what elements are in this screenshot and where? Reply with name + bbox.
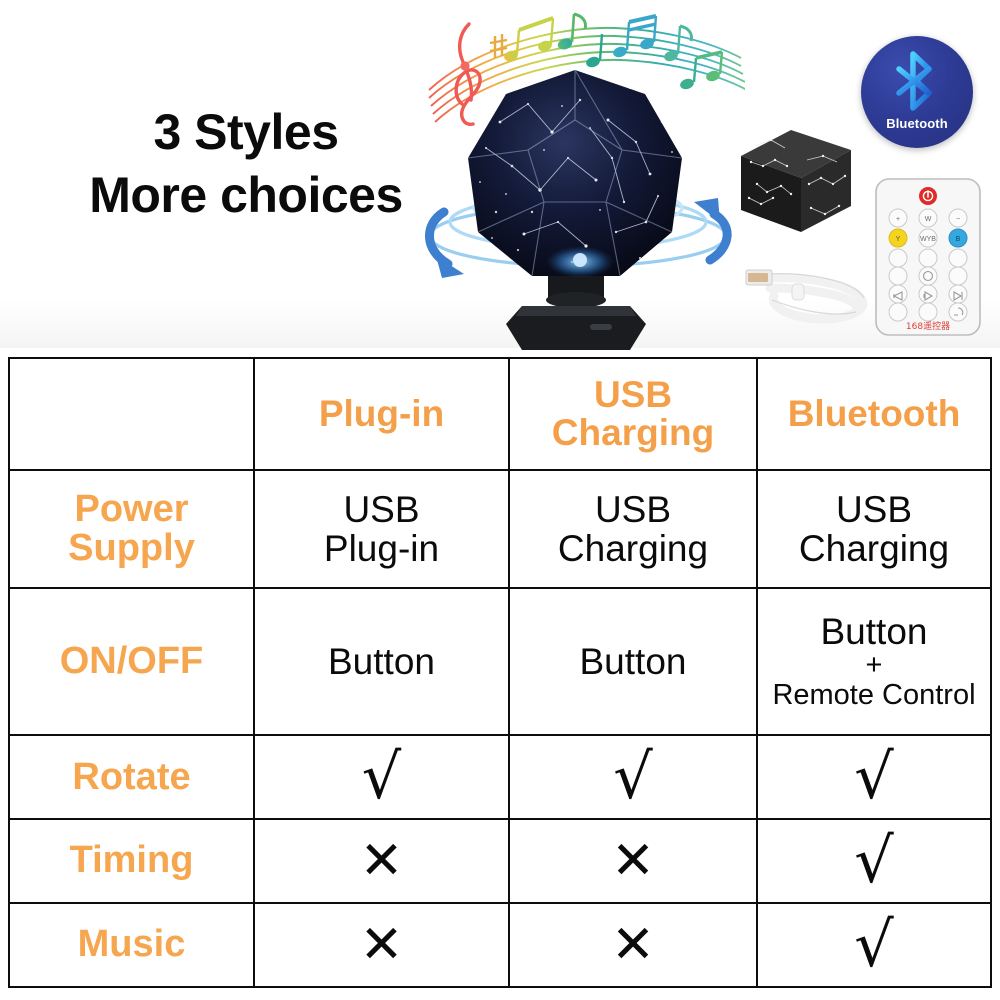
cell-line-plus: + [762,651,986,680]
svg-text:−: − [956,216,960,223]
cell-on-off-usb-charging: Button [509,588,757,735]
table-header-row: Plug-in USB Charging Bluetooth [9,358,991,470]
cell-power-supply-usb-charging: USB Charging [509,470,757,588]
star-projector-lamp-image [440,62,710,352]
cell-timing-bluetooth: √ [757,819,991,903]
row-label-timing: Timing [9,819,254,903]
cell-rotate-usb-charging: √ [509,735,757,819]
cell-line-remote: Remote Control [762,680,986,711]
cell-rotate-bluetooth: √ [757,735,991,819]
cell-on-off-plug-in: Button [254,588,509,735]
cell-music-usb-charging: ✕ [509,903,757,987]
row-label-music-line-1: Music [14,925,249,965]
svg-text:WYB: WYB [920,236,936,243]
column-header-plug-in: Plug-in [254,358,509,470]
cell-power-supply-bluetooth: USB Charging [757,470,991,588]
bluetooth-badge-label: Bluetooth [861,116,973,131]
bluetooth-badge: Bluetooth [861,36,973,148]
cell-rotate-plug-in: √ [254,735,509,819]
table-row-on-off: ON/OFF Button Button Button + Remote Con… [9,588,991,735]
cell-music-bluetooth: √ [757,903,991,987]
column-header-bluetooth-line-1: Bluetooth [762,395,986,433]
column-header-usb-charging: USB Charging [509,358,757,470]
comparison-table-wrapper: Plug-in USB Charging Bluetooth Power Sup… [8,357,990,988]
cell-line: Button [259,642,504,681]
cell-on-off-bluetooth: Button + Remote Control [757,588,991,735]
cell-line: USB [762,490,986,529]
column-header-usb-charging-line-2: Charging [514,414,752,452]
cell-timing-usb-charging: ✕ [509,819,757,903]
row-label-timing-line-1: Timing [14,841,249,881]
row-label-rotate: Rotate [9,735,254,819]
cell-line: Button [514,642,752,681]
table-corner-cell [9,358,254,470]
cell-line: Button [762,612,986,651]
table-row-rotate: Rotate √ √ √ [9,735,991,819]
headline-line-2: More choices [46,167,446,224]
usb-cable-image [736,248,886,334]
table-row-power-supply: Power Supply USB Plug-in USB Charging US… [9,470,991,588]
cell-line: Charging [762,529,986,568]
cell-timing-plug-in: ✕ [254,819,509,903]
column-header-bluetooth: Bluetooth [757,358,991,470]
ir-remote-control-image: +W− WYB Y B 168遥控器 [872,176,984,338]
row-label-rotate-line-1: Rotate [14,758,249,798]
row-label-on-off: ON/OFF [9,588,254,735]
svg-text:Y: Y [896,236,901,243]
comparison-table: Plug-in USB Charging Bluetooth Power Sup… [8,357,992,988]
row-label-power-supply: Power Supply [9,470,254,588]
cell-line: Plug-in [259,529,504,568]
bluetooth-icon [889,50,945,112]
table-row-timing: Timing ✕ ✕ √ [9,819,991,903]
cell-music-plug-in: ✕ [254,903,509,987]
column-header-plug-in-line-1: Plug-in [259,395,504,433]
table-row-music: Music ✕ ✕ √ [9,903,991,987]
cell-line: Charging [514,529,752,568]
cell-line: USB [259,490,504,529]
page-title: 3 Styles More choices [46,104,446,224]
headline-line-1: 3 Styles [46,104,446,161]
row-label-music: Music [9,903,254,987]
svg-text:W: W [925,216,932,223]
constellation-gift-box-image [733,122,857,240]
row-label-power-supply-line-1: Power [14,490,249,530]
row-label-on-off-line-1: ON/OFF [14,642,249,682]
column-header-usb-charging-line-1: USB [514,376,752,414]
remote-footer-label: 168遥控器 [906,320,950,332]
svg-text:B: B [956,236,961,243]
hero-image-area: +W− WYB Y B 168遥控器 Bluet [0,0,1000,357]
cell-power-supply-plug-in: USB Plug-in [254,470,509,588]
svg-text:+: + [896,216,900,223]
row-label-power-supply-line-2: Supply [14,529,249,569]
cell-line: USB [514,490,752,529]
